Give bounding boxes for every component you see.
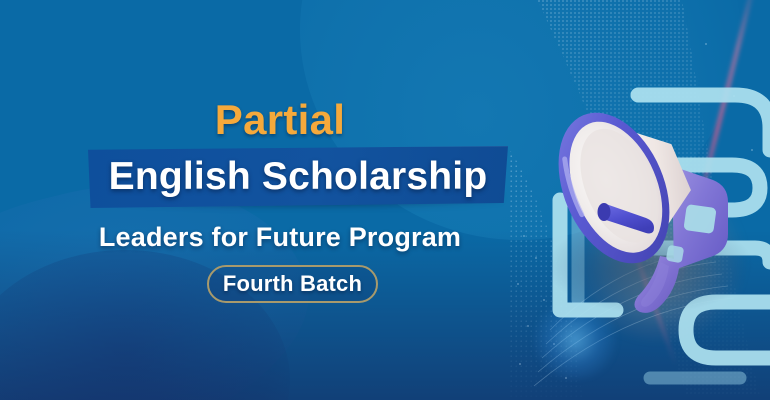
- headline-band: English Scholarship: [88, 146, 508, 208]
- eyebrow-title: Partial: [0, 96, 560, 144]
- batch-badge-label: Fourth Batch: [223, 271, 362, 297]
- megaphone-svg: [528, 70, 770, 340]
- scholarship-promo-banner: Partial English Scholarship Leaders for …: [0, 0, 770, 400]
- program-subtitle: Leaders for Future Program: [0, 222, 560, 253]
- headline-title: English Scholarship: [88, 146, 508, 208]
- banner-text-content: Partial English Scholarship Leaders for …: [0, 0, 560, 400]
- batch-badge: Fourth Batch: [207, 265, 378, 303]
- megaphone-icon: [528, 70, 770, 340]
